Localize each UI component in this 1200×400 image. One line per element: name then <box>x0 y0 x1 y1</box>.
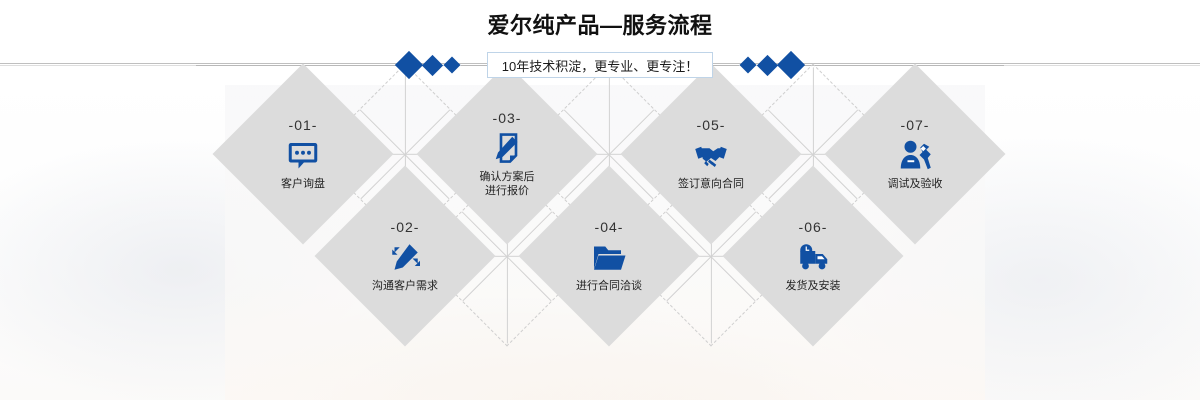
diamond-icon <box>757 54 778 75</box>
connector-line <box>713 65 739 66</box>
technician-wrench-icon <box>897 137 933 173</box>
step-number: -01- <box>289 118 318 133</box>
pencil-edit-icon <box>387 239 423 275</box>
process-diagram: -01- 客户询盘 -02- 沟通客户需求 -03- <box>0 70 1200 400</box>
step-number: -04- <box>595 220 624 235</box>
subtitle-text: 10年技术积淀，更专业、更专注！ <box>487 52 713 78</box>
diamond-icon <box>395 51 423 79</box>
diamond-ornament-left <box>396 55 487 75</box>
step-label: 沟通客户需求 <box>372 279 438 293</box>
page-title: 爱尔纯产品—服务流程 <box>0 12 1200 40</box>
step-label: 调试及验收 <box>888 177 943 191</box>
document-pencil-icon <box>489 130 525 166</box>
step-label: 签订意向合同 <box>678 177 744 191</box>
connector-line <box>461 65 487 66</box>
step-label: 发货及安装 <box>786 279 841 293</box>
handshake-icon <box>693 137 729 173</box>
diamond-icon <box>740 57 757 74</box>
diamond-icon <box>422 54 443 75</box>
delivery-truck-icon <box>795 239 831 275</box>
service-process-banner: 爱尔纯产品—服务流程 10年技术积淀，更专业、更专注！ -01- <box>0 0 1200 400</box>
speech-bubble-icon <box>285 137 321 173</box>
step-number: -03- <box>493 111 522 126</box>
subtitle-rule-left <box>196 65 396 66</box>
step-label: 进行合同洽谈 <box>576 279 642 293</box>
step-label: 确认方案后 进行报价 <box>480 170 535 198</box>
diamond-icon <box>777 51 805 79</box>
subtitle-rule-right <box>804 65 1004 66</box>
step-number: -02- <box>391 220 420 235</box>
step-number: -06- <box>799 220 828 235</box>
diamond-ornament-right <box>713 55 804 75</box>
step-label: 客户询盘 <box>281 177 325 191</box>
open-folder-icon <box>591 239 627 275</box>
step-number: -07- <box>901 118 930 133</box>
diamond-icon <box>443 57 460 74</box>
step-number: -05- <box>697 118 726 133</box>
process-step-07[interactable]: -07- 调试及验收 <box>824 63 1005 244</box>
